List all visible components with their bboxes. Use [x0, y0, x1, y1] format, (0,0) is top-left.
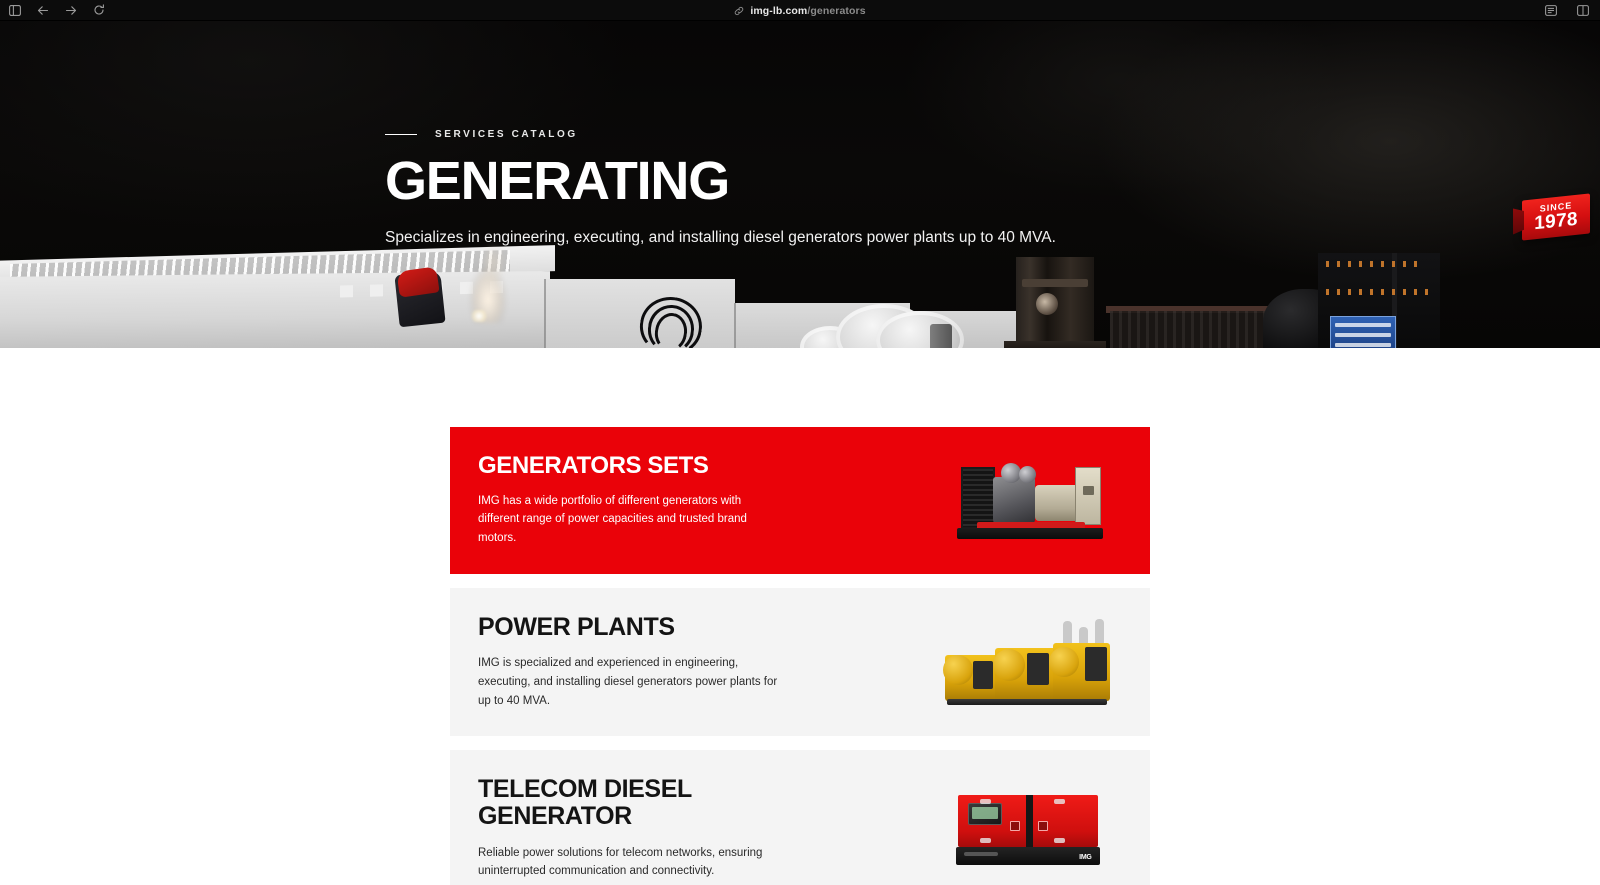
- card-title: TELECOM DIESEL GENERATOR: [478, 776, 738, 830]
- browser-toolbar: img-lb.com/generators: [0, 0, 1600, 21]
- card-description: IMG is specialized and experienced in en…: [478, 654, 788, 710]
- reload-icon[interactable]: [90, 2, 108, 18]
- browser-right-controls: [1542, 0, 1592, 21]
- eyebrow-rule: [385, 134, 417, 136]
- yellow-gensets-image: [905, 588, 1150, 737]
- link-icon: [734, 6, 744, 16]
- service-card-generators-sets[interactable]: GENERATORS SETS IMG has a wide portfolio…: [450, 427, 1150, 574]
- sidebar-toggle-icon[interactable]: [6, 2, 24, 18]
- split-view-icon[interactable]: [1574, 3, 1592, 19]
- hero-subtitle: Specializes in engineering, executing, a…: [385, 227, 1056, 249]
- back-arrow-icon[interactable]: [34, 2, 52, 18]
- card-description: IMG has a wide portfolio of different ge…: [478, 492, 783, 548]
- url-path: /generators: [807, 5, 865, 17]
- reader-view-icon[interactable]: [1542, 3, 1560, 19]
- card-description: Reliable power solutions for telecom net…: [478, 844, 788, 881]
- service-card-telecom-diesel-generator[interactable]: TELECOM DIESEL GENERATOR Reliable power …: [450, 750, 1150, 885]
- hero-section: SINCE 1978 SERVICES CATALOG GENERATING S…: [0, 21, 1600, 348]
- red-telecom-generator-image: IMG: [905, 750, 1150, 885]
- service-card-list: GENERATORS SETS IMG has a wide portfolio…: [450, 427, 1150, 885]
- browser-nav-controls: [0, 2, 108, 18]
- address-bar[interactable]: img-lb.com/generators: [0, 0, 1600, 21]
- services-catalog: GENERATORS SETS IMG has a wide portfolio…: [0, 348, 1600, 885]
- brand-mark: IMG: [1079, 854, 1091, 861]
- page-title: GENERATING: [385, 154, 1056, 209]
- hero-copy: SERVICES CATALOG GENERATING Specializes …: [385, 129, 1056, 249]
- hero-eyebrow: SERVICES CATALOG: [385, 129, 1056, 140]
- open-frame-genset-image: [907, 427, 1150, 574]
- since-badge-year: 1978: [1534, 209, 1577, 234]
- since-badge: SINCE 1978: [1522, 193, 1590, 240]
- hero-eyebrow-text: SERVICES CATALOG: [435, 129, 578, 140]
- card-title: POWER PLANTS: [478, 614, 880, 641]
- service-card-power-plants[interactable]: POWER PLANTS IMG is specialized and expe…: [450, 588, 1150, 737]
- forward-arrow-icon[interactable]: [62, 2, 80, 18]
- card-title: GENERATORS SETS: [478, 453, 880, 479]
- url-host: img-lb.com: [750, 5, 807, 17]
